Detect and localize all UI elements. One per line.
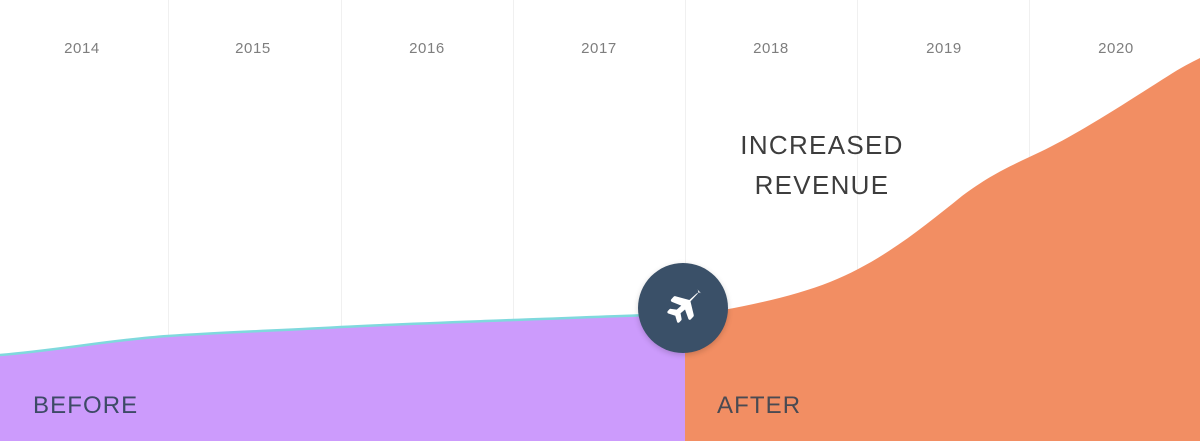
area-before (0, 314, 685, 441)
revenue-growth-chart: 2014201520162017201820192020 INCREASED R… (0, 0, 1200, 441)
after-segment-label: AFTER (717, 392, 801, 420)
x-tick-2014: 2014 (64, 40, 100, 57)
increased-revenue-annotation: INCREASED REVENUE (740, 126, 903, 205)
annotation-line-2: REVENUE (740, 166, 903, 206)
inflection-point-badge[interactable] (638, 263, 728, 353)
before-segment-label: BEFORE (33, 392, 138, 420)
area-after (685, 58, 1200, 441)
area-chart-svg (0, 0, 1200, 441)
x-tick-2018: 2018 (753, 40, 789, 57)
x-tick-2016: 2016 (409, 40, 445, 57)
x-tick-2019: 2019 (926, 40, 962, 57)
airplane-icon (657, 282, 709, 334)
x-tick-2017: 2017 (581, 40, 617, 57)
x-tick-2020: 2020 (1098, 40, 1134, 57)
annotation-line-1: INCREASED (740, 126, 903, 166)
x-tick-2015: 2015 (235, 40, 271, 57)
